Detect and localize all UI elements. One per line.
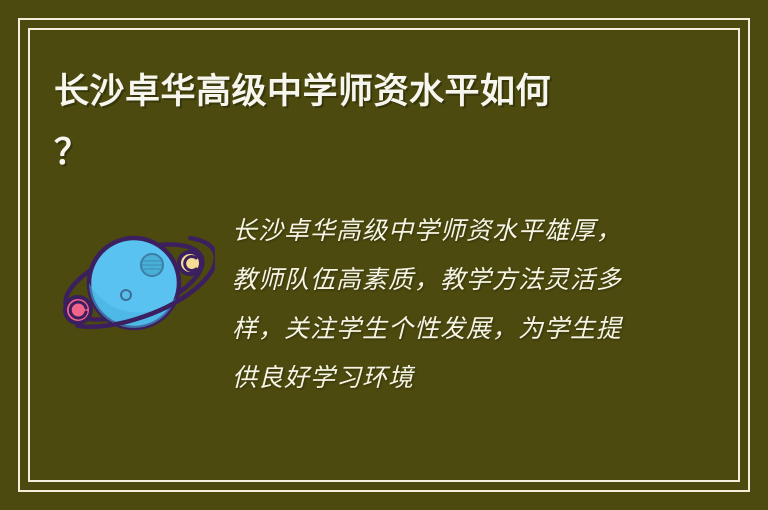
poster-canvas: 长沙卓华高级中学师资水平如何 ？ xyxy=(0,0,768,510)
moon-pink xyxy=(65,297,91,323)
moon-yellow xyxy=(179,252,201,274)
planet-crater-large xyxy=(141,254,163,276)
planet-sphere xyxy=(89,238,179,328)
body-paragraph: 长沙卓华高级中学师资水平雄厚，教师队伍高素质，教学方法灵活多样，关注学生个性发展… xyxy=(232,206,644,402)
planet-crater-small xyxy=(121,290,131,300)
page-title: 长沙卓华高级中学师资水平如何 ？ xyxy=(54,62,654,185)
planet-with-orbit-illustration xyxy=(50,208,215,353)
